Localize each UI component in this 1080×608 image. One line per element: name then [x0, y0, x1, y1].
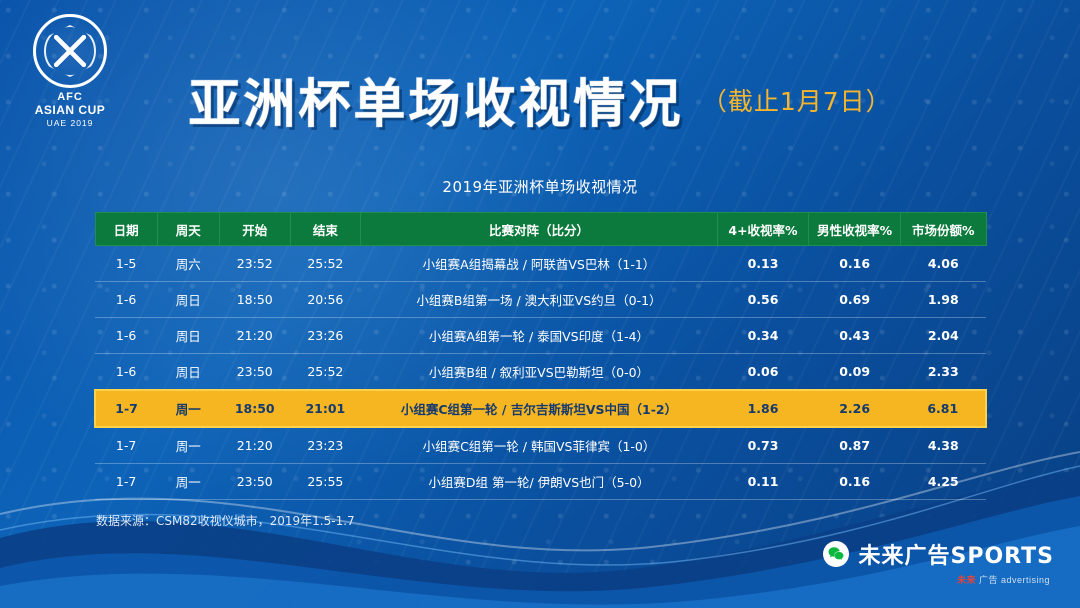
- table-row: 1-6 周日 23:50 25:52 小组赛B组 / 叙利亚VS巴勒斯坦（0-0…: [95, 354, 986, 391]
- cell-weekday: 周一: [157, 464, 219, 500]
- cell-share: 2.33: [901, 354, 986, 391]
- column-header-rating4: 4+收视率%: [717, 213, 808, 246]
- cell-start: 23:50: [219, 354, 290, 391]
- cell-match: 小组赛B组第一场 / 澳大利亚VS约旦（0-1）: [361, 282, 718, 318]
- cell-end: 25:52: [290, 354, 361, 391]
- cell-rating4: 0.13: [717, 246, 808, 282]
- cell-end: 25:52: [290, 246, 361, 282]
- cell-male-rating: 0.16: [809, 464, 901, 500]
- page-title: 亚洲杯单场收视情况: [188, 62, 683, 137]
- wechat-account-sublabel: 未来 广告 advertising: [957, 573, 1050, 586]
- cell-start: 21:20: [219, 318, 290, 354]
- cell-match: 小组赛C组第一轮 / 韩国VS菲律宾（1-0）: [361, 427, 718, 464]
- column-header-start: 开始: [219, 213, 290, 246]
- table-header-row: 日期 周天 开始 结束 比赛对阵（比分） 4+收视率% 男性收视率% 市场份额%: [95, 213, 986, 246]
- column-header-date: 日期: [95, 213, 157, 246]
- cell-match: 小组赛A组揭幕战 / 阿联酋VS巴林（1-1）: [361, 246, 718, 282]
- cell-male-rating: 0.43: [809, 318, 901, 354]
- cell-weekday: 周日: [157, 354, 219, 391]
- cell-male-rating: 0.69: [809, 282, 901, 318]
- cell-rating4: 0.11: [717, 464, 808, 500]
- cell-rating4: 0.56: [717, 282, 808, 318]
- table-row: 1-6 周日 21:20 23:26 小组赛A组第一轮 / 泰国VS印度（1-4…: [95, 318, 986, 354]
- cell-rating4: 0.34: [717, 318, 808, 354]
- data-source-note: 数据来源：CSM82收视仪城市，2019年1.5-1.7: [96, 512, 355, 529]
- cell-date: 1-6: [95, 282, 157, 318]
- cell-rating4: 0.73: [717, 427, 808, 464]
- cell-weekday: 周一: [157, 390, 219, 427]
- cell-end: 20:56: [290, 282, 361, 318]
- table-row: 1-6 周日 18:50 20:56 小组赛B组第一场 / 澳大利亚VS约旦（0…: [95, 282, 986, 318]
- cell-male-rating: 0.87: [809, 427, 901, 464]
- cell-share: 1.98: [901, 282, 986, 318]
- cell-match: 小组赛A组第一轮 / 泰国VS印度（1-4）: [361, 318, 718, 354]
- cell-date: 1-6: [95, 318, 157, 354]
- cell-share: 4.06: [901, 246, 986, 282]
- column-header-match: 比赛对阵（比分）: [361, 213, 718, 246]
- table-body: 1-5 周六 23:52 25:52 小组赛A组揭幕战 / 阿联酋VS巴林（1-…: [95, 246, 986, 500]
- cell-match: 小组赛D组 第一轮/ 伊朗VS也门（5-0）: [361, 464, 718, 500]
- cell-end: 25:55: [290, 464, 361, 500]
- wechat-account: 未来广告SPORTS: [823, 538, 1054, 570]
- table-row: 1-7 周一 21:20 23:23 小组赛C组第一轮 / 韩国VS菲律宾（1-…: [95, 427, 986, 464]
- ratings-table: 日期 周天 开始 结束 比赛对阵（比分） 4+收视率% 男性收视率% 市场份额%…: [94, 212, 987, 500]
- cell-match: 小组赛C组第一轮 / 吉尔吉斯斯坦VS中国（1-2）: [361, 390, 718, 427]
- cell-weekday: 周一: [157, 427, 219, 464]
- cell-date: 1-7: [95, 427, 157, 464]
- cell-male-rating: 0.16: [809, 246, 901, 282]
- cell-date: 1-7: [95, 390, 157, 427]
- cell-share: 2.04: [901, 318, 986, 354]
- table-row: 1-7 周一 23:50 25:55 小组赛D组 第一轮/ 伊朗VS也门（5-0…: [95, 464, 986, 500]
- wechat-icon: [823, 541, 849, 567]
- cell-weekday: 周日: [157, 318, 219, 354]
- cell-weekday: 周六: [157, 246, 219, 282]
- cell-end: 21:01: [290, 390, 361, 427]
- cell-weekday: 周日: [157, 282, 219, 318]
- column-header-male-rating: 男性收视率%: [809, 213, 901, 246]
- cell-share: 4.25: [901, 464, 986, 500]
- cell-date: 1-5: [95, 246, 157, 282]
- wechat-account-name: 未来广告SPORTS: [859, 538, 1054, 570]
- column-header-weekday: 周天: [157, 213, 219, 246]
- cell-male-rating: 0.09: [809, 354, 901, 391]
- cell-start: 18:50: [219, 390, 290, 427]
- cell-share: 4.38: [901, 427, 986, 464]
- cell-match: 小组赛B组 / 叙利亚VS巴勒斯坦（0-0）: [361, 354, 718, 391]
- table-row-highlighted: 1-7 周一 18:50 21:01 小组赛C组第一轮 / 吉尔吉斯斯坦VS中国…: [95, 390, 986, 427]
- cell-end: 23:26: [290, 318, 361, 354]
- column-header-share: 市场份额%: [901, 213, 986, 246]
- cell-date: 1-7: [95, 464, 157, 500]
- title-block: 亚洲杯单场收视情况 （截止1月7日）: [0, 62, 1080, 137]
- wechat-sub-rest: 广告 advertising: [979, 575, 1050, 585]
- table-row: 1-5 周六 23:52 25:52 小组赛A组揭幕战 / 阿联酋VS巴林（1-…: [95, 246, 986, 282]
- cell-start: 23:50: [219, 464, 290, 500]
- cell-share: 6.81: [901, 390, 986, 427]
- cell-rating4: 0.06: [717, 354, 808, 391]
- cell-end: 23:23: [290, 427, 361, 464]
- cell-male-rating: 2.26: [809, 390, 901, 427]
- cell-start: 18:50: [219, 282, 290, 318]
- column-header-end: 结束: [290, 213, 361, 246]
- cell-start: 23:52: [219, 246, 290, 282]
- cell-rating4: 1.86: [717, 390, 808, 427]
- wechat-sub-brand: 未来: [957, 575, 976, 585]
- cell-start: 21:20: [219, 427, 290, 464]
- table-caption: 2019年亚洲杯单场收视情况: [0, 176, 1080, 197]
- page-subtitle: （截止1月7日）: [702, 82, 892, 118]
- cell-date: 1-6: [95, 354, 157, 391]
